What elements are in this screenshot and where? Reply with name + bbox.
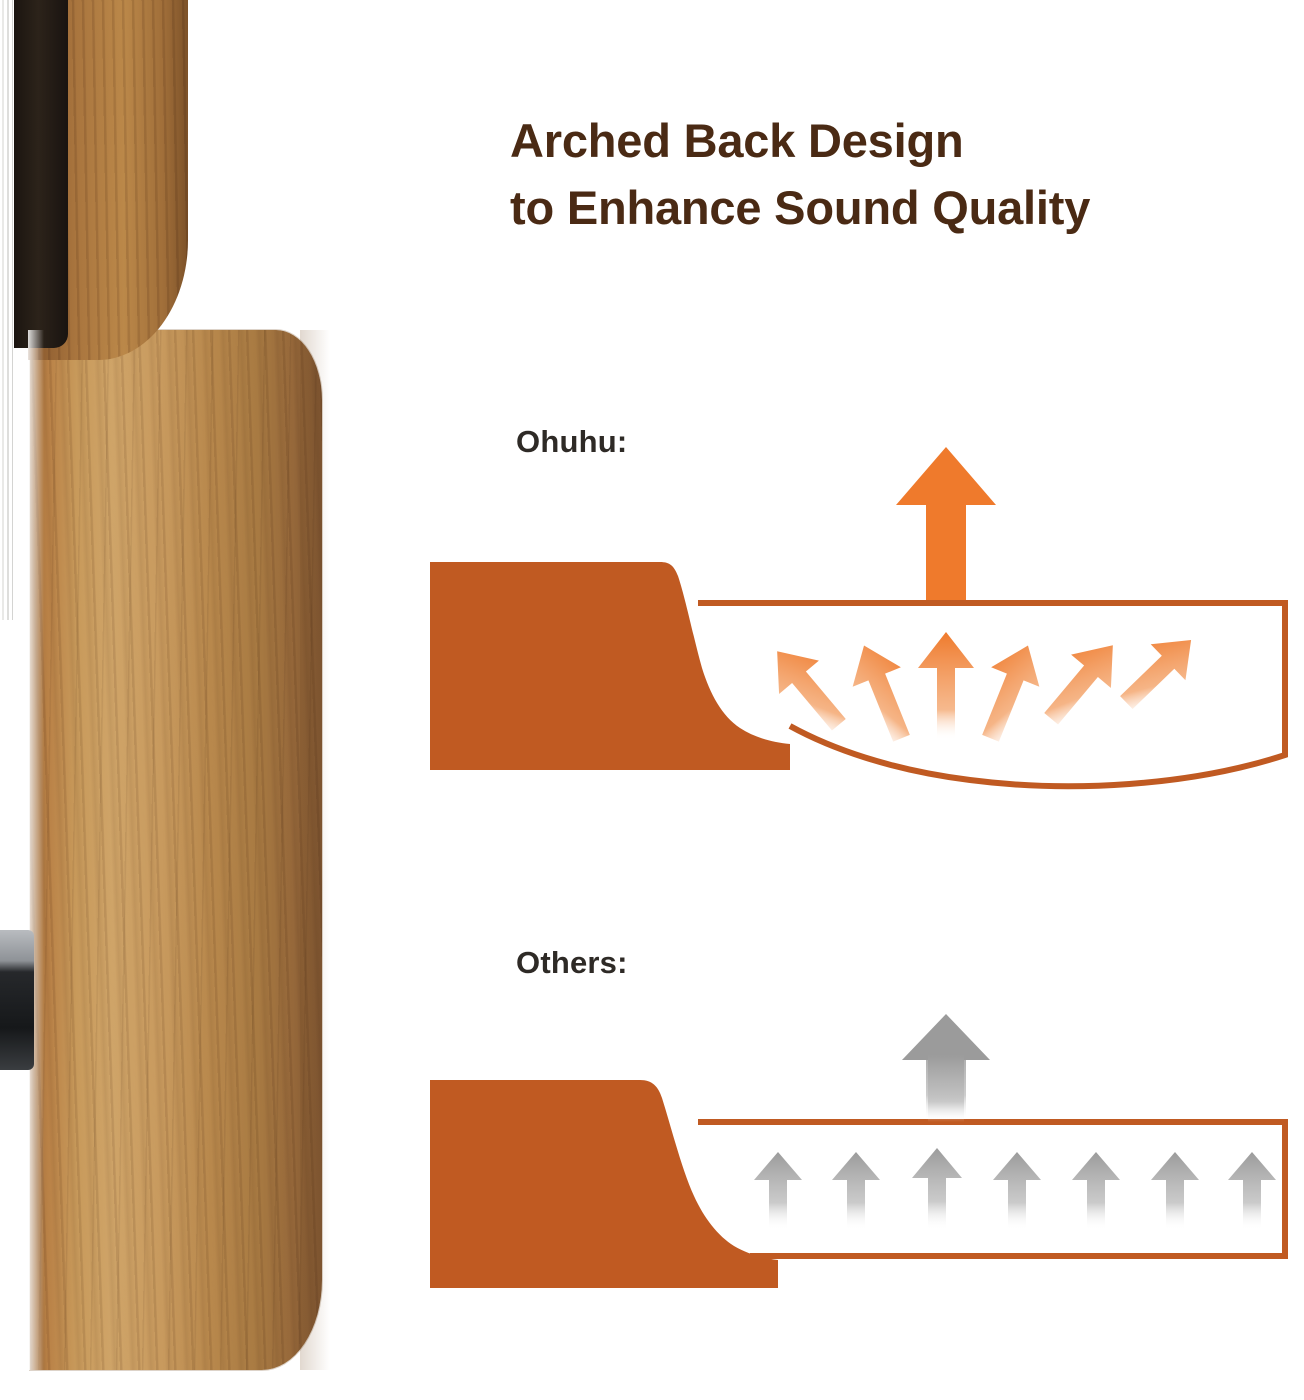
ohuhu-arrow-left-inner xyxy=(840,636,926,748)
ohuhu-small-arrows xyxy=(757,622,1208,748)
ohuhu-arrow-right-outer xyxy=(1031,629,1133,736)
ukulele-photo xyxy=(0,0,330,1400)
ukulele-output-jack xyxy=(0,930,34,1070)
ohuhu-arrow-right-inner xyxy=(966,636,1052,748)
others-main-arrow-shaft xyxy=(928,1055,964,1122)
diagram-ohuhu xyxy=(430,447,1285,786)
ukulele-edge-highlight xyxy=(28,330,44,1370)
others-neck-block xyxy=(430,1080,778,1288)
others-arrow-7 xyxy=(1228,1152,1276,1230)
others-small-arrows xyxy=(754,1148,1276,1230)
ohuhu-neck-block xyxy=(430,562,790,770)
others-main-arrow-head xyxy=(902,1014,990,1060)
others-arrow-1 xyxy=(754,1152,802,1230)
ukulele-body-shadow xyxy=(300,330,330,1370)
ohuhu-arrow-far-right xyxy=(1109,622,1208,720)
others-arrow-3 xyxy=(912,1148,962,1230)
ohuhu-arrow-left-outer xyxy=(757,635,859,742)
others-arrow-4 xyxy=(993,1152,1041,1230)
diagram-panel: Arched Back Design to Enhance Sound Qual… xyxy=(330,0,1304,1400)
others-arrow-2 xyxy=(832,1152,880,1230)
ukulele-fretboard xyxy=(14,0,68,348)
others-arrow-6 xyxy=(1151,1152,1199,1230)
ohuhu-main-arrow xyxy=(896,447,996,600)
ukulele-body-wood xyxy=(30,330,322,1370)
others-arrow-5 xyxy=(1072,1152,1120,1230)
sound-projection-diagrams xyxy=(330,0,1304,1400)
ukulele-strings xyxy=(0,0,18,620)
ohuhu-arrow-center xyxy=(918,632,974,740)
diagram-others xyxy=(430,1014,1285,1288)
